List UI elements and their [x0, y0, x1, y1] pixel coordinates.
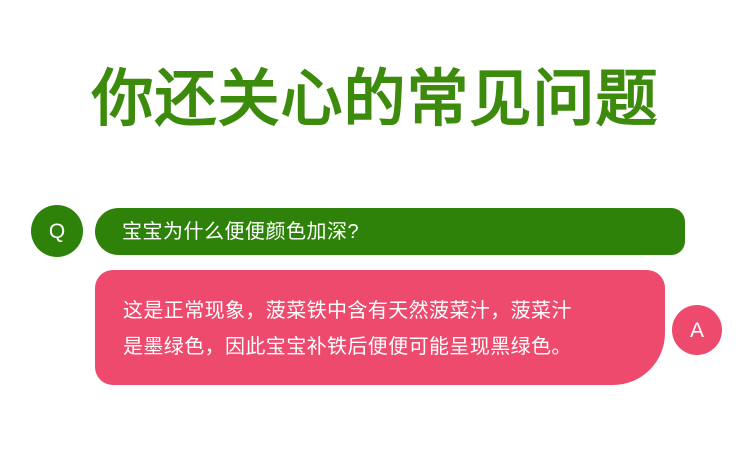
page-root: 你还关心的常见问题 Q 宝宝为什么便便颜色加深? 这是正常现象，菠菜铁中含有天然…	[0, 0, 750, 463]
answer-badge: A	[672, 305, 722, 355]
question-bubble[interactable]: 宝宝为什么便便颜色加深?	[95, 208, 685, 255]
question-badge: Q	[31, 205, 83, 257]
answer-bubble[interactable]: 这是正常现象，菠菜铁中含有天然菠菜汁，菠菜汁 是墨绿色，因此宝宝补铁后便便可能呈…	[95, 270, 665, 385]
answer-row: 这是正常现象，菠菜铁中含有天然菠菜汁，菠菜汁 是墨绿色，因此宝宝补铁后便便可能呈…	[95, 270, 722, 388]
question-text: 宝宝为什么便便颜色加深?	[95, 218, 359, 246]
answer-text-line-1: 这是正常现象，菠菜铁中含有天然菠菜汁，菠菜汁	[123, 293, 639, 329]
question-row: Q 宝宝为什么便便颜色加深?	[31, 205, 719, 257]
faq-block: Q 宝宝为什么便便颜色加深? 这是正常现象，菠菜铁中含有天然菠菜汁，菠菜汁 是墨…	[0, 0, 750, 463]
answer-text-line-2: 是墨绿色，因此宝宝补铁后便便可能呈现黑绿色。	[123, 329, 639, 365]
